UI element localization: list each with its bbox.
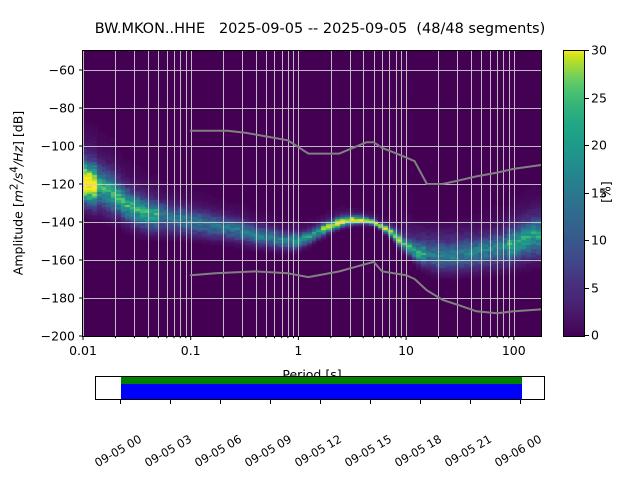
timeline-tick-label: 09-05 15 <box>342 432 394 470</box>
timeline-tick <box>320 400 321 404</box>
timeline-tick <box>420 400 421 404</box>
timeline-tick <box>520 400 521 404</box>
timeline-tick <box>220 400 221 404</box>
x-tick-label: 0.1 <box>181 343 201 358</box>
coverage-bar-data <box>121 384 523 399</box>
timeline-tick <box>470 400 471 404</box>
colorbar-tick-label: 0 <box>591 328 599 343</box>
x-tick-label: 0.01 <box>69 343 97 358</box>
timeline-tick <box>170 400 171 404</box>
x-tick-label: 100 <box>502 343 526 358</box>
plot-title: BW.MKON..HHE 2025-09-05 -- 2025-09-05 (4… <box>0 21 640 37</box>
ppsd-figure: BW.MKON..HHE 2025-09-05 -- 2025-09-05 (4… <box>0 0 640 480</box>
axis-ticks <box>77 51 547 351</box>
y-tick-label: −100 <box>41 139 75 154</box>
timeline-tick-label: 09-05 00 <box>92 432 144 470</box>
timeline-tick <box>370 400 371 404</box>
colorbar-tick <box>585 193 589 194</box>
colorbar-tick <box>585 288 589 289</box>
y-tick-label: −80 <box>49 101 75 116</box>
colorbar-tick-label: 30 <box>591 43 607 58</box>
colorbar-tick <box>585 50 589 51</box>
y-tick-label: −140 <box>41 215 75 230</box>
timeline-tick <box>120 400 121 404</box>
timeline-tick-label: 09-05 21 <box>442 432 494 470</box>
timeline-tick-label: 09-05 03 <box>142 432 194 470</box>
timeline-tick-label: 09-06 00 <box>492 432 544 470</box>
colorbar-tick-label: 25 <box>591 90 607 105</box>
colorbar-tick <box>585 145 589 146</box>
ppsd-axes: 0.010.1110100 −60−80−100−120−140−160−180… <box>82 50 542 337</box>
colorbar-tick <box>585 98 589 99</box>
timeline-tick <box>270 400 271 404</box>
y-tick-label: −180 <box>41 291 75 306</box>
colorbar-tick-label: 10 <box>591 233 607 248</box>
colorbar-tick-label: 5 <box>591 280 599 295</box>
data-coverage-timeline <box>95 376 545 400</box>
timeline-tick-label: 09-05 06 <box>192 432 244 470</box>
timeline-tick-label: 09-05 12 <box>292 432 344 470</box>
y-tick-label: −160 <box>41 253 75 268</box>
x-tick-label: 10 <box>398 343 414 358</box>
timeline-tick-label: 09-05 18 <box>392 432 444 470</box>
colorbar-tick <box>585 335 589 336</box>
colorbar <box>563 50 585 337</box>
y-tick-label: −120 <box>41 177 75 192</box>
colorbar-label: [%] <box>599 181 614 203</box>
coverage-bar-gaps <box>121 377 523 384</box>
y-axis-label: Amplitude [m2/s4/Hz] [dB] <box>8 111 25 275</box>
timeline-tick-label: 09-05 09 <box>242 432 294 470</box>
colorbar-tick-label: 20 <box>591 138 607 153</box>
y-tick-label: −60 <box>49 63 75 78</box>
colorbar-tick <box>585 240 589 241</box>
y-tick-label: −200 <box>41 329 75 344</box>
x-tick-label: 1 <box>294 343 302 358</box>
